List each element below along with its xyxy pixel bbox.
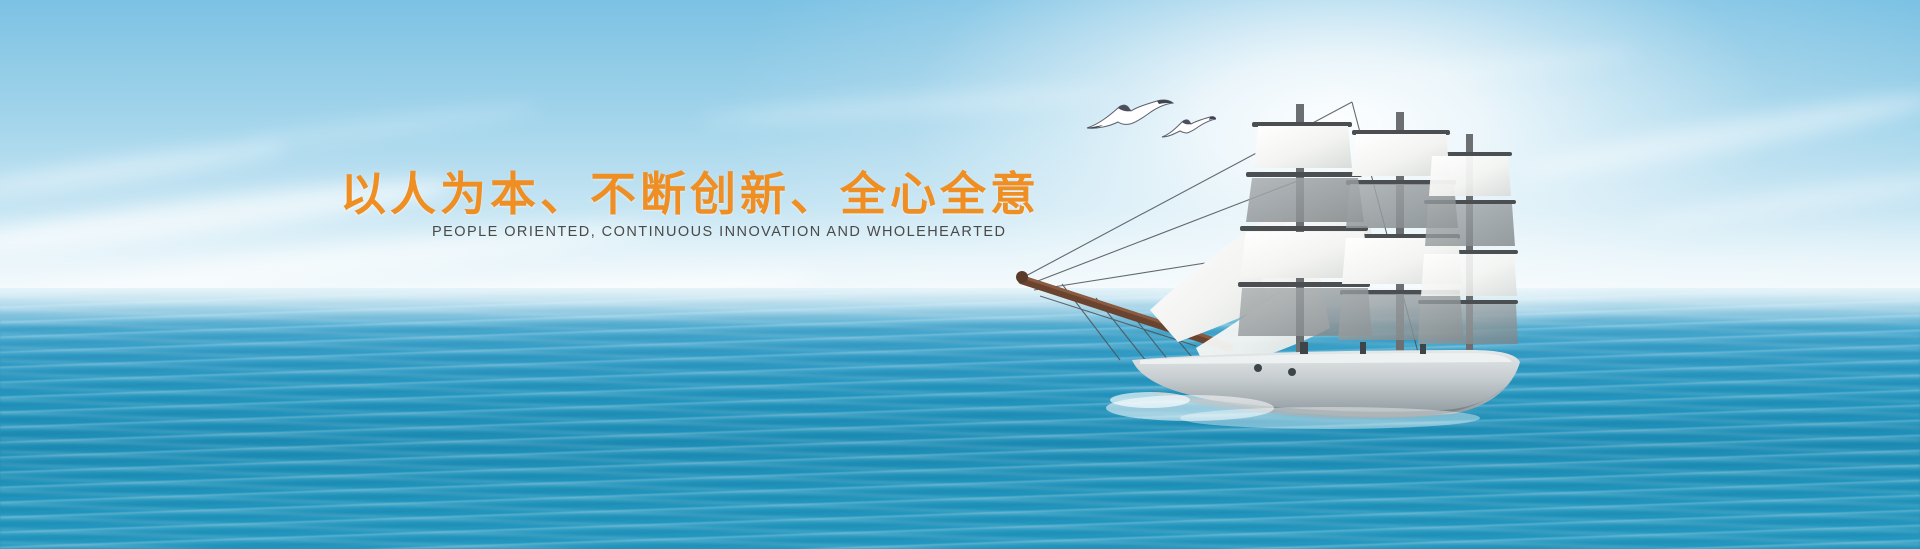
- cirrus-cloud-icon: [1521, 84, 1920, 186]
- cirrus-cloud-icon: [240, 100, 540, 152]
- page-subtitle: PEOPLE ORIENTED, CONTINUOUS INNOVATION A…: [432, 224, 1006, 240]
- page-title: 以人为本、不断创新、全心全意: [340, 158, 1040, 224]
- hero-banner: 以人为本、不断创新、全心全意 PEOPLE ORIENTED, CONTINUO…: [0, 0, 1920, 549]
- tall-ship-icon: [1000, 60, 1560, 460]
- sky-background: [0, 0, 1920, 300]
- sea-background: [0, 288, 1920, 549]
